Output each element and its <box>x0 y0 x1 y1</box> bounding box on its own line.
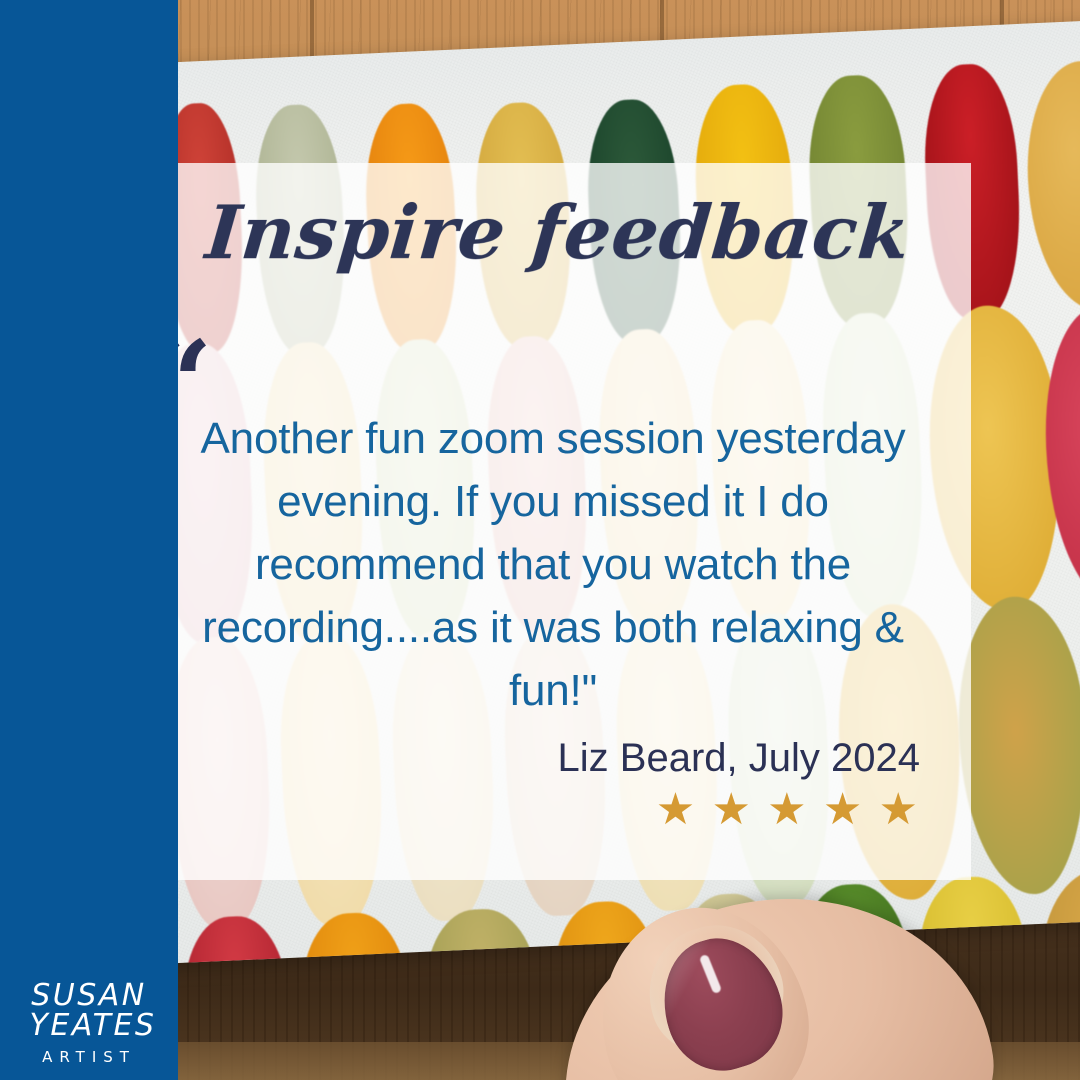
star-icon: ★ <box>711 788 752 832</box>
logo-line-artist: ARTIST <box>0 1048 178 1066</box>
star-icon: ★ <box>823 788 864 832</box>
logo: SUSAN YEATES ARTIST <box>0 981 178 1066</box>
star-rating: ★ ★ ★ ★ ★ <box>158 788 920 832</box>
swatch <box>953 594 1080 897</box>
logo-line-susan: SUSAN <box>0 981 178 1012</box>
testimonial-text: Another fun zoom session yesterday eveni… <box>158 408 948 723</box>
brand-sidebar: SUSAN YEATES ARTIST <box>0 0 178 1080</box>
testimonial-attribution: Liz Beard, July 2024 <box>158 736 920 781</box>
star-icon: ★ <box>879 788 920 832</box>
social-post-canvas: Inspire feedback “ Another fun zoom sess… <box>0 0 1080 1080</box>
page-title: Inspire feedback <box>175 196 941 270</box>
star-icon: ★ <box>656 788 697 832</box>
swatch <box>1023 58 1080 313</box>
logo-line-yeates: YEATES <box>0 1011 178 1042</box>
star-icon: ★ <box>767 788 808 832</box>
